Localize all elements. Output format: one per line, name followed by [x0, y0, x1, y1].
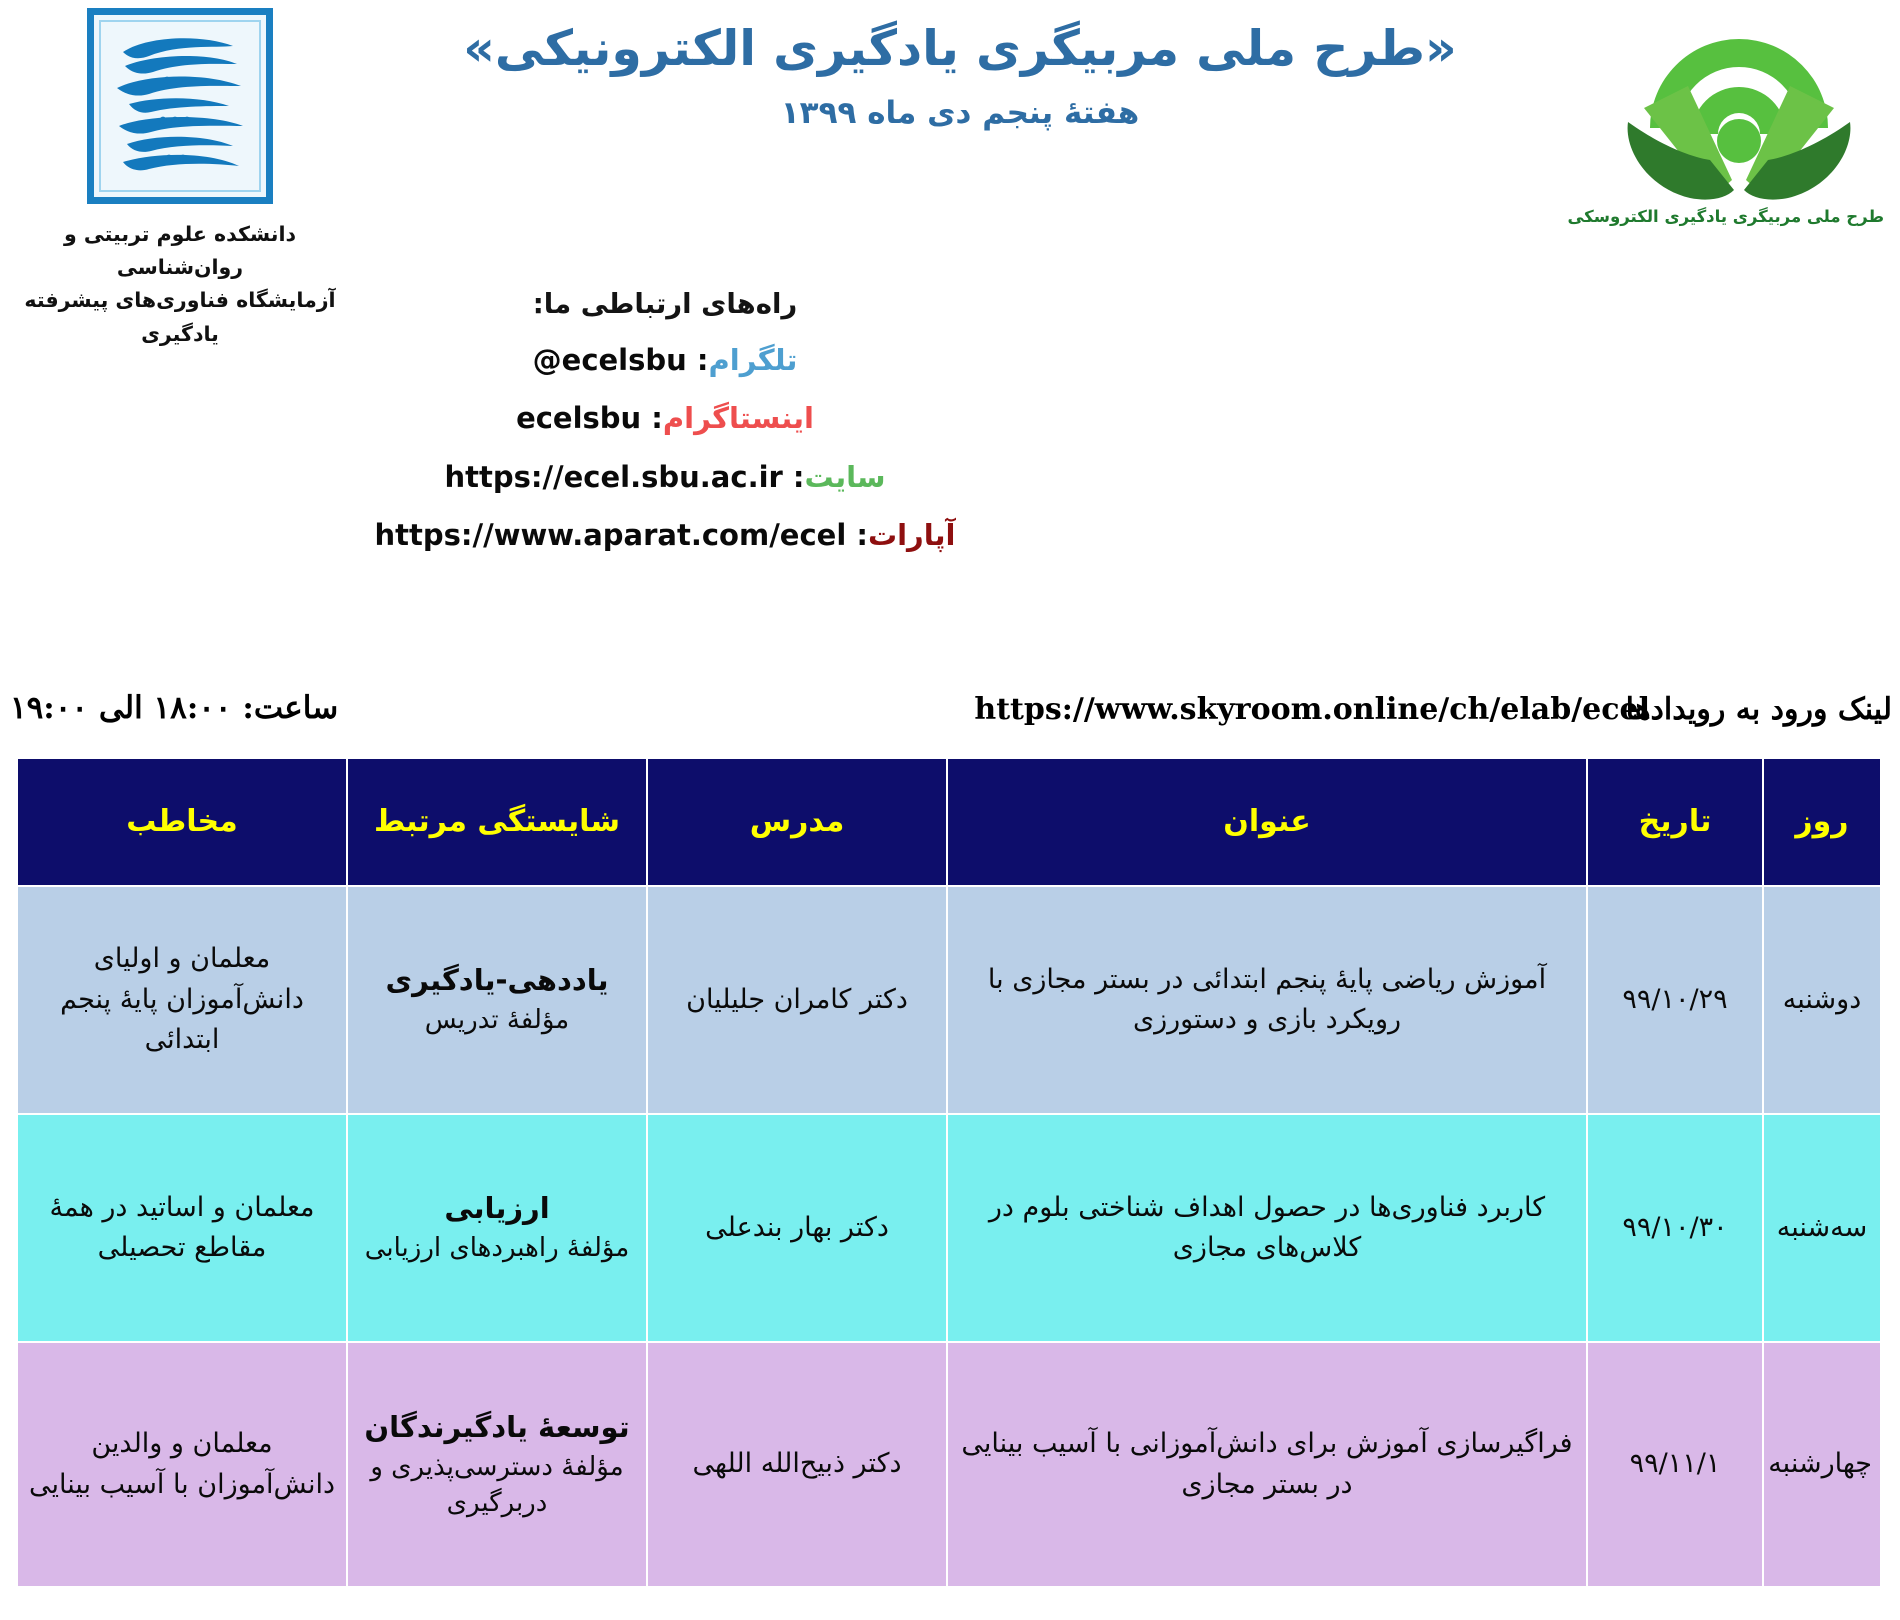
competency-main: ارزیابی	[356, 1189, 638, 1228]
column-header-competency: شایستگی مرتبط	[347, 758, 647, 886]
title-block: «طرح ملی مربیگری یادگیری الکترونیکی» هفت…	[380, 18, 1540, 134]
event-link-url[interactable]: https://www.skyroom.online/ch/elab/ecel	[974, 692, 1650, 727]
column-header-teacher: مدرس	[647, 758, 947, 886]
cell-day: چهارشنبه	[1763, 1342, 1881, 1587]
table-row: سه‌شنبه ۹۹/۱۰/۳۰ کاربرد فناوری‌ها در حصو…	[17, 1114, 1881, 1342]
cell-title: فراگیرسازی آموزش برای دانش‌آموزانی با آس…	[947, 1342, 1587, 1587]
contact-colon: :	[641, 401, 663, 435]
column-header-audience: مخاطب	[17, 758, 347, 886]
cell-audience: معلمان و والدین دانش‌آموزان با آسیب بینا…	[17, 1342, 347, 1587]
page-subtitle: هفتهٔ پنجم دی ماه ۱۳۹۹	[380, 93, 1540, 133]
cell-teacher: دکتر بهار بندعلی	[647, 1114, 947, 1342]
contact-value-telegram[interactable]: @ecelsbu	[533, 342, 687, 378]
page-title: «طرح ملی مربیگری یادگیری الکترونیکی»	[380, 18, 1540, 79]
event-time: ساعت: ۱۸:۰۰ الی ۱۹:۰۰	[10, 690, 338, 726]
event-link-strip: لینک ورود به رویدادها https://www.skyroo…	[0, 690, 1900, 752]
ecel-program-logo-icon	[1614, 10, 1864, 205]
university-logo-frame	[99, 20, 261, 192]
competency-main: یاددهی-یادگیری	[356, 961, 638, 1000]
contact-colon: :	[783, 460, 805, 494]
competency-sub: مؤلفهٔ دسترسی‌پذیری و دربرگیری	[356, 1449, 638, 1522]
cell-date: ۹۹/۱۱/۱	[1587, 1342, 1763, 1587]
competency-sub: مؤلفهٔ راهبردهای ارزیابی	[356, 1230, 638, 1266]
cell-title: آموزش ریاضی پایهٔ پنجم ابتدائی در بستر م…	[947, 886, 1587, 1114]
column-header-date: تاریخ	[1587, 758, 1763, 886]
schedule-table-wrapper: روز تاریخ عنوان مدرس شایستگی مرتبط مخاطب…	[18, 757, 1882, 1588]
cell-date: ۹۹/۱۰/۳۰	[1587, 1114, 1763, 1342]
contact-value-aparat[interactable]: https://www.aparat.com/ecel	[375, 517, 847, 553]
contact-colon: :	[687, 343, 709, 377]
contact-label-instagram: اینستاگرام	[663, 401, 814, 435]
cell-day: سه‌شنبه	[1763, 1114, 1881, 1342]
column-header-title: عنوان	[947, 758, 1587, 886]
ecel-caption: طرح ملی مربیگری یادگیری الکتروسکی	[1594, 207, 1884, 226]
faculty-name: دانشکده علوم تربیتی و روان‌شناسی	[0, 218, 360, 284]
cell-title: کاربرد فناوری‌ها در حصول اهداف شناختی بل…	[947, 1114, 1587, 1342]
schedule-table: روز تاریخ عنوان مدرس شایستگی مرتبط مخاطب…	[16, 757, 1882, 1588]
contact-row-site: سایت: https://ecel.sbu.ac.ir	[0, 459, 1330, 495]
table-header-row: روز تاریخ عنوان مدرس شایستگی مرتبط مخاطب	[17, 758, 1881, 886]
table-row: چهارشنبه ۹۹/۱۱/۱ فراگیرسازی آموزش برای د…	[17, 1342, 1881, 1587]
cell-teacher: دکتر کامران جلیلیان	[647, 886, 947, 1114]
cell-audience: معلمان و اساتید در همهٔ مقاطع تحصیلی	[17, 1114, 347, 1342]
cell-teacher: دکتر ذبیح‌الله اللهی	[647, 1342, 947, 1587]
contact-label-telegram: تلگرام	[709, 343, 798, 377]
cell-day: دوشنبه	[1763, 886, 1881, 1114]
contact-value-site[interactable]: https://ecel.sbu.ac.ir	[444, 459, 782, 495]
contact-row-telegram: تلگرام: @ecelsbu	[0, 342, 1330, 378]
competency-sub: مؤلفهٔ تدریس	[356, 1002, 638, 1038]
competency-main: توسعهٔ یادگیرندگان	[356, 1408, 638, 1447]
cell-audience: معلمان و اولیای دانش‌آموزان پایهٔ پنجم ا…	[17, 886, 347, 1114]
table-row: دوشنبه ۹۹/۱۰/۲۹ آموزش ریاضی پایهٔ پنجم ا…	[17, 886, 1881, 1114]
contact-row-aparat: آپارات: https://www.aparat.com/ecel	[0, 517, 1330, 553]
cell-competency: یاددهی-یادگیری مؤلفهٔ تدریس	[347, 886, 647, 1114]
contact-block: راه‌های ارتباطی ما: تلگرام: @ecelsbu این…	[0, 288, 1330, 575]
ecel-branding: طرح ملی مربیگری یادگیری الکتروسکی	[1594, 10, 1884, 226]
cell-competency: توسعهٔ یادگیرندگان مؤلفهٔ دسترسی‌پذیری و…	[347, 1342, 647, 1587]
contact-colon: :	[846, 518, 868, 552]
shahid-beheshti-university-logo-icon	[87, 8, 273, 204]
cell-date: ۹۹/۱۰/۲۹	[1587, 886, 1763, 1114]
contact-heading: راه‌های ارتباطی ما:	[0, 288, 1330, 320]
poster-header: دانشکده علوم تربیتی و روان‌شناسی آزمایشگ…	[0, 0, 1900, 300]
cell-competency: ارزیابی مؤلفهٔ راهبردهای ارزیابی	[347, 1114, 647, 1342]
event-link-label: لینک ورود به رویدادها	[1626, 692, 1892, 727]
column-header-day: روز	[1763, 758, 1881, 886]
contact-label-site: سایت	[805, 460, 886, 494]
contact-row-instagram: اینستاگرام: ecelsbu	[0, 400, 1330, 436]
contact-label-aparat: آپارات	[868, 518, 956, 552]
contact-value-instagram[interactable]: ecelsbu	[516, 400, 641, 436]
